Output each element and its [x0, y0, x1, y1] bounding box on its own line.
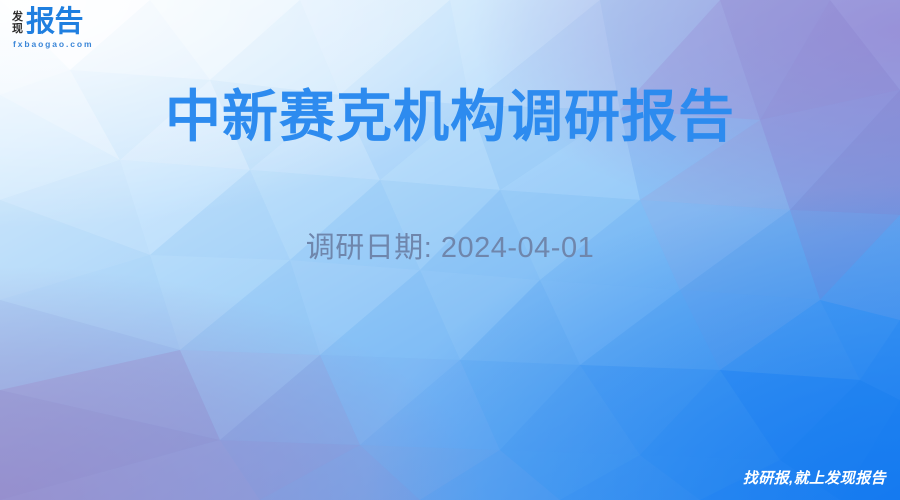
logo-mark-line1: 发	[12, 11, 23, 23]
survey-date-subtitle: 调研日期: 2024-04-01	[0, 231, 900, 266]
logo-wordmark: 报告	[26, 9, 83, 36]
report-cover-slide: 发 现 报告 fxbaogao.com 中新赛克机构调研报告 调研日期: 202…	[0, 0, 900, 500]
logo-url: fxbaogao.com	[13, 39, 93, 49]
page-title: 中新赛克机构调研报告	[0, 86, 900, 149]
brand-logo[interactable]: 发 现 报告 fxbaogao.com	[12, 9, 93, 49]
footer-tagline: 找研报,就上发现报告	[743, 467, 886, 488]
logo-mark-stack: 发 现	[12, 9, 23, 35]
logo-mark-line2: 现	[12, 23, 23, 35]
logo-wordmark-row: 发 现 报告	[12, 9, 83, 36]
